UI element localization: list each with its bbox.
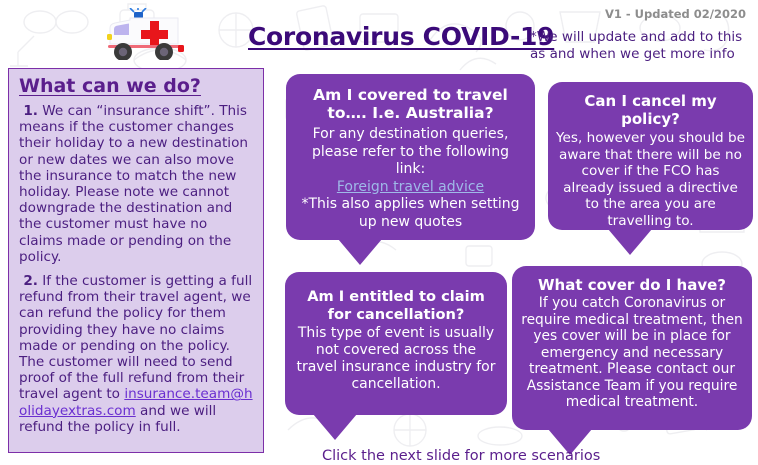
panel-item-2: 2. If the customer is getting a full ref…	[19, 273, 255, 435]
bubble-claim-cancellation-body: This type of event is usually not covere…	[295, 325, 497, 393]
bubble-travel-coverage-intro: For any destination queries, please refe…	[312, 126, 509, 177]
bubble-tail	[313, 414, 357, 440]
panel-item-1-number: 1.	[23, 103, 38, 119]
panel-item-1-text: We can “insurance shift”. This means if …	[19, 103, 248, 265]
bubble-travel-coverage-outro: *This also applies when setting up new q…	[301, 196, 519, 230]
what-can-we-do-panel: What can we do? 1. We can “insurance shi…	[8, 68, 264, 453]
bubble-claim-cancellation-title: Am I entitled to claim for cancellation?	[295, 288, 497, 324]
panel-item-2-text-before-link: If the customer is getting a full refund…	[19, 273, 252, 402]
bubble-what-cover-title: What cover do I have?	[520, 276, 744, 294]
slide-canvas: Coronavirus COVID-19 V1 - Updated 02/202…	[0, 0, 758, 465]
bubble-what-cover: What cover do I have? If you catch Coron…	[512, 266, 752, 430]
bubble-cancel-policy: Can I cancel my policy? Yes, however you…	[548, 82, 753, 230]
version-label: V1 - Updated 02/2020	[605, 7, 746, 21]
next-slide-cta[interactable]: Click the next slide for more scenarios	[322, 448, 600, 464]
page-title: Coronavirus COVID-19	[248, 22, 528, 51]
bubble-cancel-policy-title: Can I cancel my policy?	[556, 92, 745, 128]
bubble-claim-cancellation: Am I entitled to claim for cancellation?…	[285, 272, 507, 415]
bubble-travel-coverage: Am I covered to travel to…. I.e. Austral…	[286, 74, 535, 240]
panel-heading: What can we do?	[19, 75, 255, 97]
bubble-cancel-policy-body: Yes, however you should be aware that th…	[556, 130, 745, 229]
panel-item-1: 1. We can “insurance shift”. This means …	[19, 103, 255, 265]
update-note: *We will update and add to this as and w…	[530, 29, 754, 63]
bubble-what-cover-body: If you catch Coronavirus or require medi…	[520, 295, 744, 411]
bubble-tail	[338, 239, 382, 265]
bubble-tail	[608, 229, 652, 255]
foreign-travel-advice-link[interactable]: Foreign travel advice	[337, 179, 484, 195]
bubble-travel-coverage-body: For any destination queries, please refe…	[296, 126, 525, 231]
panel-item-2-number: 2.	[23, 273, 38, 289]
bubble-travel-coverage-title: Am I covered to travel to…. I.e. Austral…	[296, 86, 525, 122]
ambulance-icon	[92, 8, 192, 60]
